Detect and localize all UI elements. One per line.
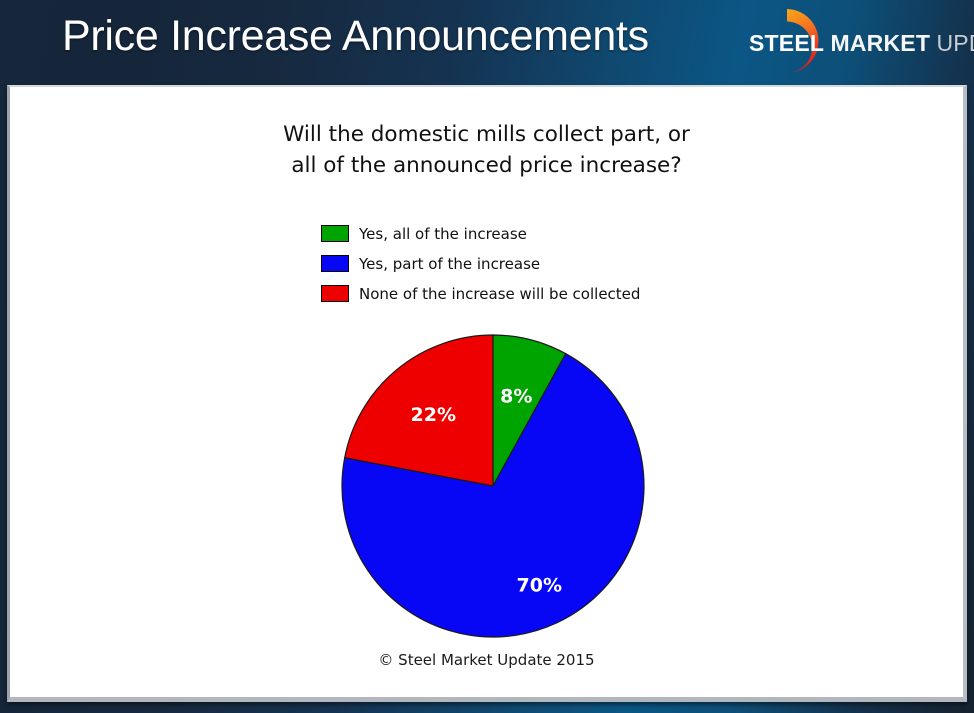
legend-item-all: Yes, all of the increase: [321, 221, 640, 246]
logo-word-update: UPDATE: [937, 30, 974, 56]
legend-item-none: None of the increase will be collected: [321, 281, 640, 306]
steel-market-update-logo: STEEL MARKET UPDATE: [744, 4, 972, 78]
logo-wordmark: STEEL MARKET UPDATE: [749, 30, 974, 56]
legend-label-all: Yes, all of the increase: [359, 225, 527, 243]
legend-label-none: None of the increase will be collected: [359, 285, 640, 303]
pie-chart: 8%70%22%: [341, 334, 661, 654]
chart-legend: Yes, all of the increase Yes, part of th…: [321, 221, 640, 311]
legend-label-part: Yes, part of the increase: [359, 255, 540, 273]
pie-slice-label: 70%: [517, 574, 562, 596]
chart-question-line-2: all of the announced price increase?: [10, 150, 963, 181]
pie-slice-label: 8%: [500, 385, 532, 407]
pie-slices: [342, 335, 644, 637]
slide-header: Price Increase Announcements STEEL MARKE…: [0, 0, 974, 82]
legend-item-part: Yes, part of the increase: [321, 251, 640, 276]
copyright-notice: © Steel Market Update 2015: [10, 651, 963, 669]
legend-swatch-red: [321, 285, 349, 302]
legend-swatch-blue: [321, 255, 349, 272]
slide-canvas: Price Increase Announcements STEEL MARKE…: [0, 0, 974, 713]
chart-question-line-1: Will the domestic mills collect part, or: [10, 119, 963, 150]
logo-word-steel: STEEL: [749, 30, 824, 56]
logo-word-market: MARKET: [831, 30, 931, 56]
page-title: Price Increase Announcements: [62, 12, 649, 61]
chart-question: Will the domestic mills collect part, or…: [10, 119, 963, 181]
pie-chart-svg: 8%70%22%: [341, 334, 661, 654]
pie-slice-label: 22%: [411, 404, 456, 426]
legend-swatch-green: [321, 225, 349, 242]
content-panel: Will the domestic mills collect part, or…: [7, 85, 967, 702]
